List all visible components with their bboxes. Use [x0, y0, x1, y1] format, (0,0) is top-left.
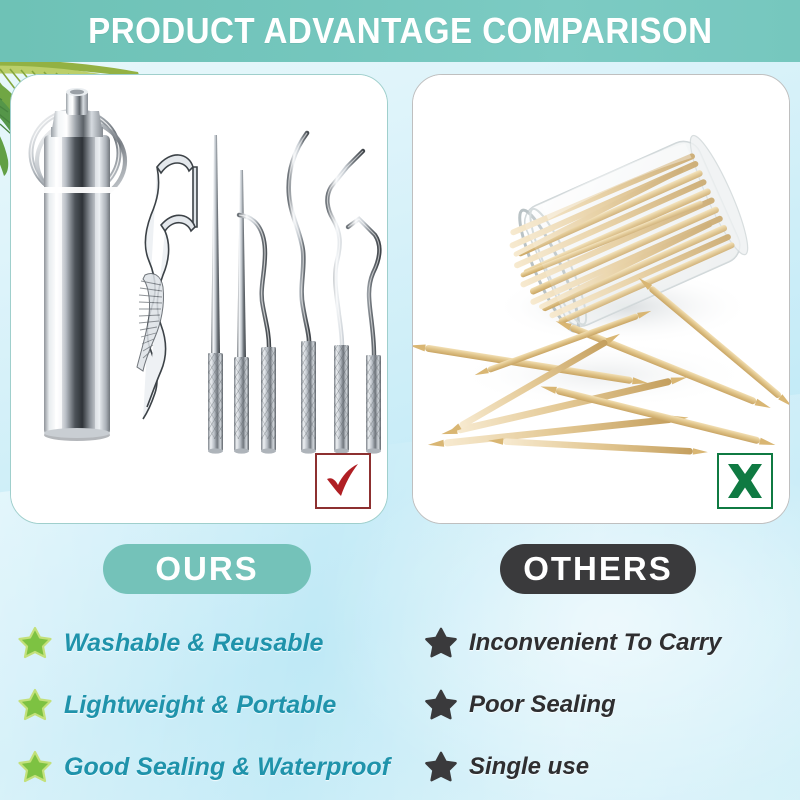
list-item: Lightweight & Portable — [18, 674, 418, 736]
list-item: Poor Sealing — [425, 674, 800, 736]
list-item: Washable & Reusable — [18, 612, 418, 674]
list-item-label: Good Sealing & Waterproof — [64, 753, 390, 782]
list-item: Inconvenient To Carry — [425, 612, 800, 674]
product-panels — [0, 62, 800, 524]
star-icon — [425, 689, 457, 721]
others-feature-list: Inconvenient To Carry Poor Sealing Singl… — [425, 612, 800, 798]
check-icon — [322, 460, 364, 502]
others-product-panel[interactable] — [412, 74, 790, 524]
comparison-lists: Washable & Reusable Lightweight & Portab… — [0, 612, 800, 800]
ours-product-panel[interactable] — [10, 74, 388, 524]
list-item-label: Lightweight & Portable — [64, 691, 336, 720]
star-icon — [18, 688, 52, 722]
infographic-canvas: PRODUCT ADVANTAGE COMPARISON — [0, 0, 800, 800]
ours-feature-list: Washable & Reusable Lightweight & Portab… — [18, 612, 418, 798]
list-item-label: Poor Sealing — [469, 691, 616, 719]
cross-icon — [725, 461, 765, 501]
star-icon — [18, 750, 52, 784]
header-banner: PRODUCT ADVANTAGE COMPARISON — [0, 0, 800, 62]
star-icon — [18, 626, 52, 660]
list-item: Good Sealing & Waterproof — [18, 736, 418, 798]
others-label-pill: OTHERS — [500, 544, 696, 594]
cross-badge — [717, 453, 773, 509]
comparison-labels: OURS OTHERS — [0, 540, 800, 600]
list-item: Single use — [425, 736, 800, 798]
page-title: PRODUCT ADVANTAGE COMPARISON — [88, 10, 712, 52]
check-badge — [315, 453, 371, 509]
list-item-label: Washable & Reusable — [64, 629, 323, 658]
list-item-label: Single use — [469, 753, 589, 781]
star-icon — [425, 751, 457, 783]
list-item-label: Inconvenient To Carry — [469, 629, 722, 657]
star-icon — [425, 627, 457, 659]
ours-label-pill: OURS — [103, 544, 311, 594]
